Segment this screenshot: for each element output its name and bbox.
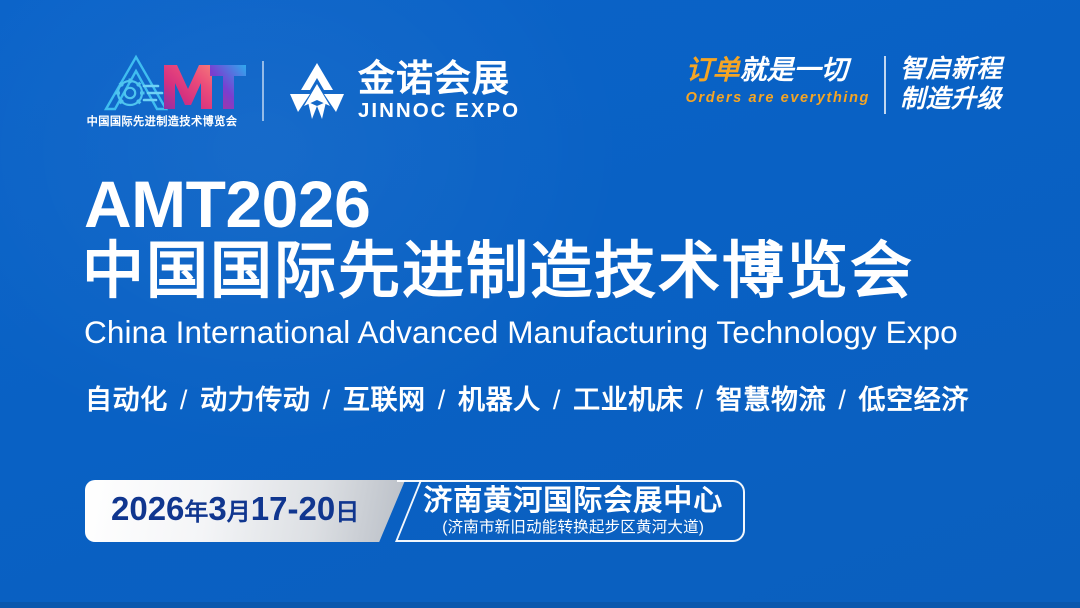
venue-address: (济南市新旧动能转换起步区黄河大道) — [442, 518, 704, 537]
amt-logo-subtitle: 中国国际先进制造技术博览会 — [78, 116, 246, 129]
category-item: 工业机床 — [573, 385, 683, 415]
jinnoc-text-block: 金诺会展 JINNOC EXPO — [358, 59, 520, 123]
slogan-right-line-2: 制造升级 — [900, 84, 1002, 114]
page-title-en: China International Advanced Manufacturi… — [84, 312, 958, 352]
category-item: 互联网 — [343, 385, 426, 415]
category-item: 智慧物流 — [716, 385, 826, 415]
date-days: 17-20 — [251, 490, 335, 527]
slogan-divider — [884, 56, 886, 114]
category-item: 动力传动 — [200, 385, 310, 415]
page-title-cn: 中国国际先进制造技术博览会 — [82, 236, 914, 308]
category-separator: / — [426, 385, 458, 415]
event-venue-panel: 济南黄河国际会展中心 (济南市新旧动能转换起步区黄河大道) — [397, 480, 745, 542]
page-title-code: AMT2026 — [84, 168, 370, 240]
logo-divider — [262, 61, 264, 121]
amt-letter-m — [164, 65, 212, 109]
category-separator: / — [541, 385, 573, 415]
category-item: 低空经济 — [859, 385, 969, 415]
bottom-strip — [0, 602, 1080, 608]
date-year-unit: 年 — [184, 499, 208, 526]
category-item: 自动化 — [85, 385, 168, 415]
slogan-en: Orders are everything — [686, 88, 870, 108]
category-separator: / — [684, 385, 716, 415]
slogan-right-block: 智启新程 制造升级 — [900, 54, 1002, 114]
amt-gear-wheel — [116, 79, 145, 106]
jinnoc-logo: 金诺会展 JINNOC EXPO — [286, 53, 520, 129]
slogan-right-line-1: 智启新程 — [900, 54, 1002, 84]
jinnoc-name-en: JINNOC EXPO — [358, 99, 520, 123]
poster-header: 中国国际先进制造技术博览会 金诺会展 JINN — [0, 48, 1080, 134]
category-separator: / — [311, 385, 343, 415]
date-month: 3 — [208, 490, 226, 527]
amt-gear-icon — [78, 53, 246, 115]
logo-group: 中国国际先进制造技术博览会 金诺会展 JINN — [78, 48, 520, 134]
jinnoc-name-cn: 金诺会展 — [358, 59, 520, 99]
event-date: 2026年3月17-20日 — [111, 490, 359, 532]
amt-logo: 中国国际先进制造技术博览会 — [78, 53, 246, 129]
header-slogan: 订单就是一切 Orders are everything 智启新程 制造升级 — [686, 54, 1002, 130]
event-date-panel: 2026年3月17-20日 — [85, 480, 405, 542]
slogan-cn-accent: 订单 — [686, 55, 740, 85]
exhibition-poster: 中国国际先进制造技术博览会 金诺会展 JINN — [0, 0, 1080, 608]
category-list: 自动化 / 动力传动 / 互联网 / 机器人 / 工业机床 / 智慧物流 / 低… — [85, 382, 969, 418]
category-item: 机器人 — [458, 385, 541, 415]
date-month-unit: 月 — [227, 499, 251, 526]
date-day-unit: 日 — [335, 499, 359, 526]
date-year: 2026 — [111, 490, 184, 527]
slogan-left-block: 订单就是一切 Orders are everything — [686, 54, 884, 108]
category-separator: / — [826, 385, 858, 415]
category-separator: / — [168, 385, 200, 415]
event-info-bar: 2026年3月17-20日 济南黄河国际会展中心 (济南市新旧动能转换起步区黄河… — [85, 480, 745, 542]
amt-letter-t — [210, 65, 246, 109]
slogan-cn: 订单就是一切 — [686, 54, 848, 86]
jinnoc-star-icon — [286, 60, 348, 122]
slogan-cn-rest: 就是一切 — [740, 55, 848, 85]
venue-name: 济南黄河国际会展中心 — [423, 485, 723, 517]
